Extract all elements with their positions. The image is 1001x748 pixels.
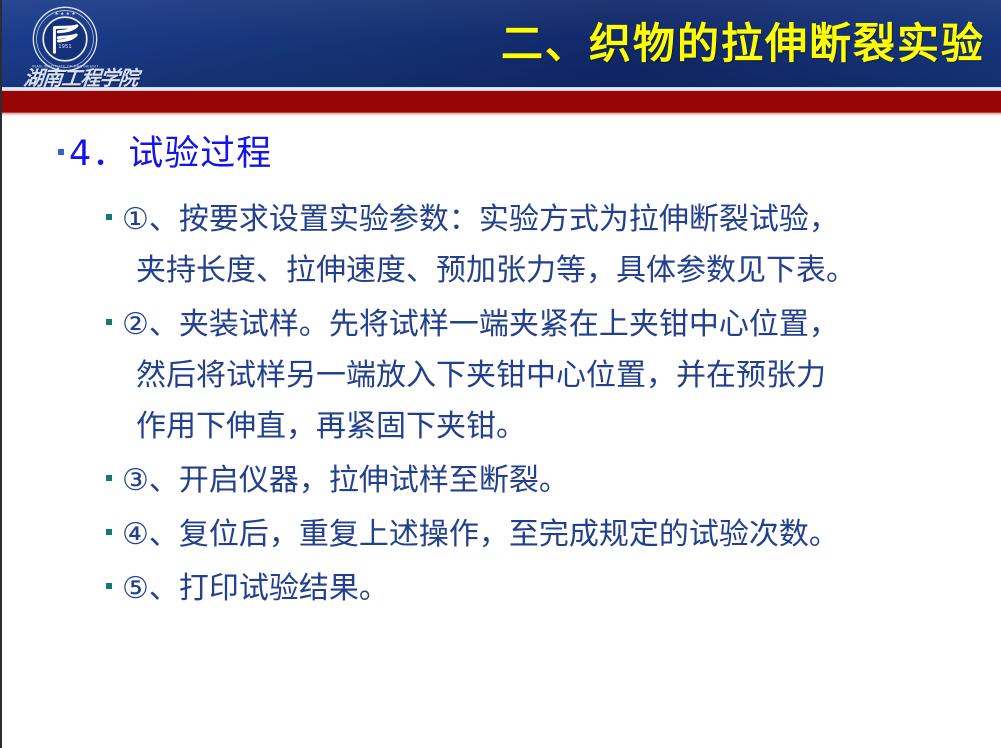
list-item: ⑤、打印试验结果。 [106, 563, 966, 614]
heading-bullet-icon [58, 149, 64, 155]
list-item-line: ③、开启仪器，拉伸试样至断裂。 [122, 455, 966, 506]
procedure-list: ①、按要求设置实验参数：实验方式为拉伸断裂试验， 夹持长度、拉伸速度、预加张力等… [106, 194, 966, 617]
accent-band [2, 91, 1001, 113]
list-item-line: ④、复位后，重复上述操作，至完成规定的试验次数。 [122, 509, 966, 560]
presentation-slide: 1951 ★ ★ ★ ★ HUNAN INSTITUTE OF ENGINEER… [0, 0, 1001, 748]
list-bullet-icon [106, 319, 112, 325]
section-heading: 4．试验过程 [58, 134, 272, 174]
list-item-text: ④、复位后，重复上述操作，至完成规定的试验次数。 [122, 509, 966, 560]
institution-name-logotype: 湖南工程学院 [23, 62, 144, 87]
list-bullet-icon [106, 583, 112, 589]
list-item-line: ⑤、打印试验结果。 [122, 563, 966, 614]
list-item-text: ①、按要求设置实验参数：实验方式为拉伸断裂试验， 夹持长度、拉伸速度、预加张力等… [122, 194, 966, 296]
institution-logo: 1951 ★ ★ ★ ★ HUNAN INSTITUTE OF ENGINEER… [24, 4, 144, 87]
svg-text:1951: 1951 [58, 44, 71, 50]
list-bullet-icon [106, 214, 112, 220]
list-item-line: 夹持长度、拉伸速度、预加张力等，具体参数见下表。 [122, 245, 966, 296]
list-item: ①、按要求设置实验参数：实验方式为拉伸断裂试验， 夹持长度、拉伸速度、预加张力等… [106, 194, 966, 296]
list-item-line: 然后将试样另一端放入下夹钳中心位置，并在预张力 [122, 350, 966, 401]
list-item: ④、复位后，重复上述操作，至完成规定的试验次数。 [106, 509, 966, 560]
list-item-line: 作用下伸直，再紧固下夹钳。 [122, 401, 966, 452]
slide-title: 二、织物的拉伸断裂实验 [501, 17, 985, 71]
list-item-line: ②、夹装试样。先将试样一端夹紧在上夹钳中心位置， [122, 299, 966, 350]
list-item: ②、夹装试样。先将试样一端夹紧在上夹钳中心位置， 然后将试样另一端放入下夹钳中心… [106, 299, 966, 452]
list-item-line: ①、按要求设置实验参数：实验方式为拉伸断裂试验， [122, 194, 966, 245]
slide-header: 1951 ★ ★ ★ ★ HUNAN INSTITUTE OF ENGINEER… [2, 0, 1001, 87]
list-bullet-icon [106, 475, 112, 481]
list-item-text: ②、夹装试样。先将试样一端夹紧在上夹钳中心位置， 然后将试样另一端放入下夹钳中心… [122, 299, 966, 452]
list-item-text: ⑤、打印试验结果。 [122, 563, 966, 614]
list-item-text: ③、开启仪器，拉伸试样至断裂。 [122, 455, 966, 506]
svg-text:★ ★ ★ ★: ★ ★ ★ ★ [55, 11, 76, 17]
slide-body: 4．试验过程 ①、按要求设置实验参数：实验方式为拉伸断裂试验， 夹持长度、拉伸速… [2, 116, 1001, 748]
list-bullet-icon [106, 529, 112, 535]
section-heading-text: 4．试验过程 [69, 134, 272, 174]
list-item: ③、开启仪器，拉伸试样至断裂。 [106, 455, 966, 506]
